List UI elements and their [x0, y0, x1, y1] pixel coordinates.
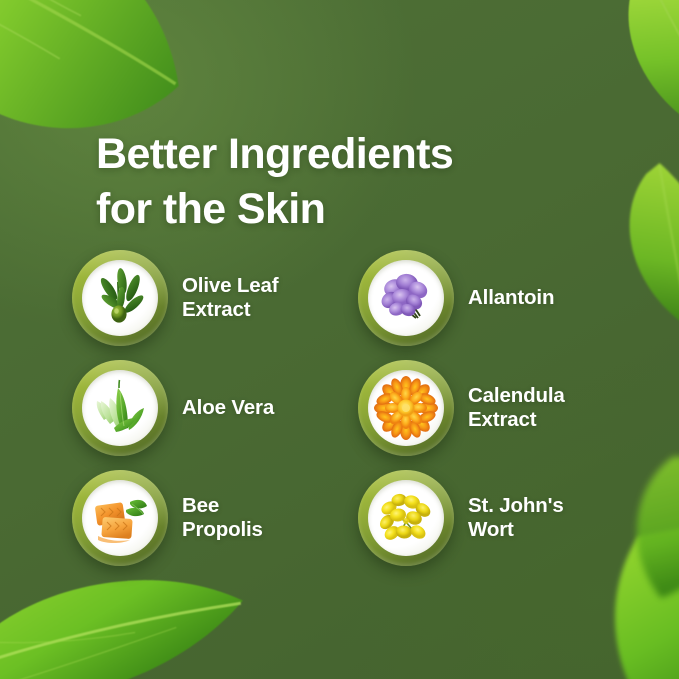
page-title-line-2: for the Skin [96, 182, 566, 237]
ingredient-badge [358, 470, 454, 566]
ingredient-badge [72, 470, 168, 566]
ingredient-item-olive-leaf-extract: Olive Leaf Extract [72, 243, 332, 353]
ingredient-label: Allantoin [468, 286, 554, 310]
ingredient-label: Olive Leaf Extract [182, 274, 279, 322]
ingredient-label-line-1: Calendula [468, 384, 565, 407]
ingredient-label-line-1: Allantoin [468, 286, 554, 309]
page-title: Better Ingredients for the Skin [96, 127, 566, 237]
ingredient-item-calendula-extract: Calendula Extract [358, 353, 618, 463]
ingredient-item-allantoin: Allantoin [358, 243, 618, 353]
aloe-leaf-icon [82, 370, 158, 446]
ingredient-label-line-2: Extract [182, 298, 279, 322]
yellow-flower-icon [368, 480, 444, 556]
ingredient-label: Calendula Extract [468, 384, 565, 432]
ingredient-label-line-1: Bee [182, 494, 219, 517]
ingredient-badge [358, 250, 454, 346]
ingredient-badge [72, 360, 168, 456]
ingredient-label-line-1: Aloe Vera [182, 396, 274, 419]
comfrey-flower-icon [368, 260, 444, 336]
ingredient-label: Aloe Vera [182, 396, 274, 420]
ingredient-label-line-1: Olive Leaf [182, 274, 279, 297]
page-title-line-1: Better Ingredients [96, 127, 566, 182]
ingredient-item-st-johns-wort: St. John's Wort [358, 463, 618, 573]
leaf-icon [576, 0, 679, 170]
ingredient-grid: Olive Leaf Extract [72, 243, 618, 573]
ingredient-label-line-2: Propolis [182, 518, 263, 542]
marigold-flower-icon [368, 370, 444, 446]
ingredient-item-aloe-vera: Aloe Vera [72, 353, 332, 463]
ingredient-badge [72, 250, 168, 346]
olive-branch-icon [82, 260, 158, 336]
ingredient-label-line-1: St. John's [468, 494, 564, 517]
ingredient-item-bee-propolis: Bee Propolis [72, 463, 332, 573]
honeycomb-icon [82, 480, 158, 556]
ingredient-label: Bee Propolis [182, 494, 263, 542]
ingredient-label: St. John's Wort [468, 494, 564, 542]
ingredients-poster: Better Ingredients for the Skin [0, 0, 679, 679]
ingredient-badge [358, 360, 454, 456]
ingredient-label-line-2: Extract [468, 408, 565, 432]
ingredient-label-line-2: Wort [468, 518, 564, 542]
